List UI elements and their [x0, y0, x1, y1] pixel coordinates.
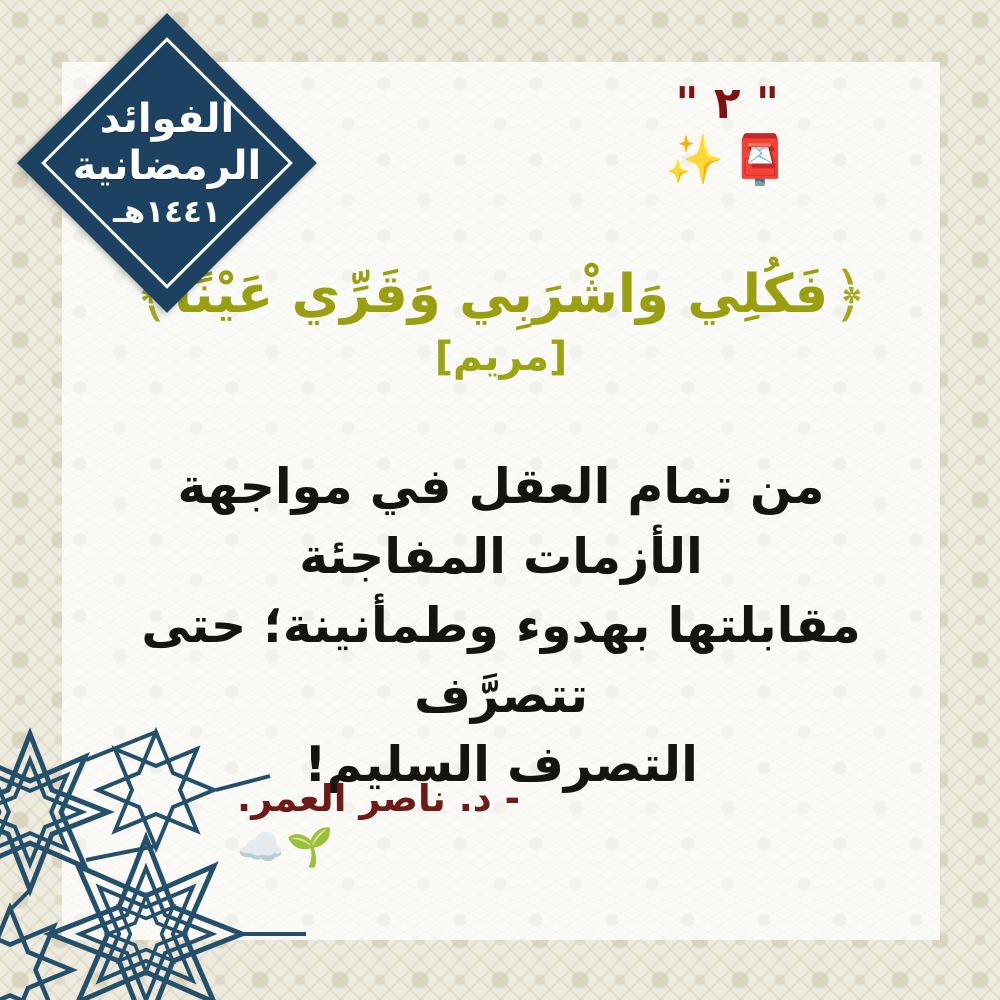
sparkles-icon: ✨	[664, 136, 724, 184]
seedling-icon: 🌱	[286, 828, 333, 866]
verse-ornament-close-icon: ﴿	[832, 265, 867, 325]
logo-hijri-year: ١٤٤١هـ	[113, 194, 221, 231]
quote-body: من تمام العقل في مواجهة الأزمات المفاجئة…	[62, 452, 940, 800]
logo-line-1: الفوائد	[100, 96, 234, 143]
attribution-block: - د. ناصر العمر. ☁️ 🌱	[237, 777, 520, 866]
logo-line-2: الرمضانية	[73, 143, 261, 190]
cloud-icon: ☁️	[237, 828, 284, 866]
postbox-icon: 📮	[730, 136, 790, 184]
marker-number: " ٢ "	[664, 82, 790, 126]
attribution-author-name: - د. ناصر العمر.	[237, 777, 520, 820]
quote-line-1: من تمام العقل في مواجهة الأزمات المفاجئة	[88, 452, 914, 591]
top-marker: " ٢ " ✨ 📮	[664, 82, 790, 184]
logo-text-group: الفوائد الرمضانية ١٤٤١هـ	[12, 8, 322, 318]
quote-line-2: مقابلتها بهدوء وطمأنينة؛ حتى تتصرَّف	[88, 591, 914, 730]
attribution-emoji-row: ☁️ 🌱	[237, 828, 520, 866]
brand-logo: الفوائد الرمضانية ١٤٤١هـ	[12, 8, 322, 318]
marker-emoji-row: ✨ 📮	[664, 136, 790, 184]
quran-verse-reference: [مريم]	[62, 334, 940, 380]
poster-canvas: " ٢ " ✨ 📮 ﴿ فَكُلِي وَاشْرَبِي وَقَرِّي …	[0, 0, 1000, 1000]
